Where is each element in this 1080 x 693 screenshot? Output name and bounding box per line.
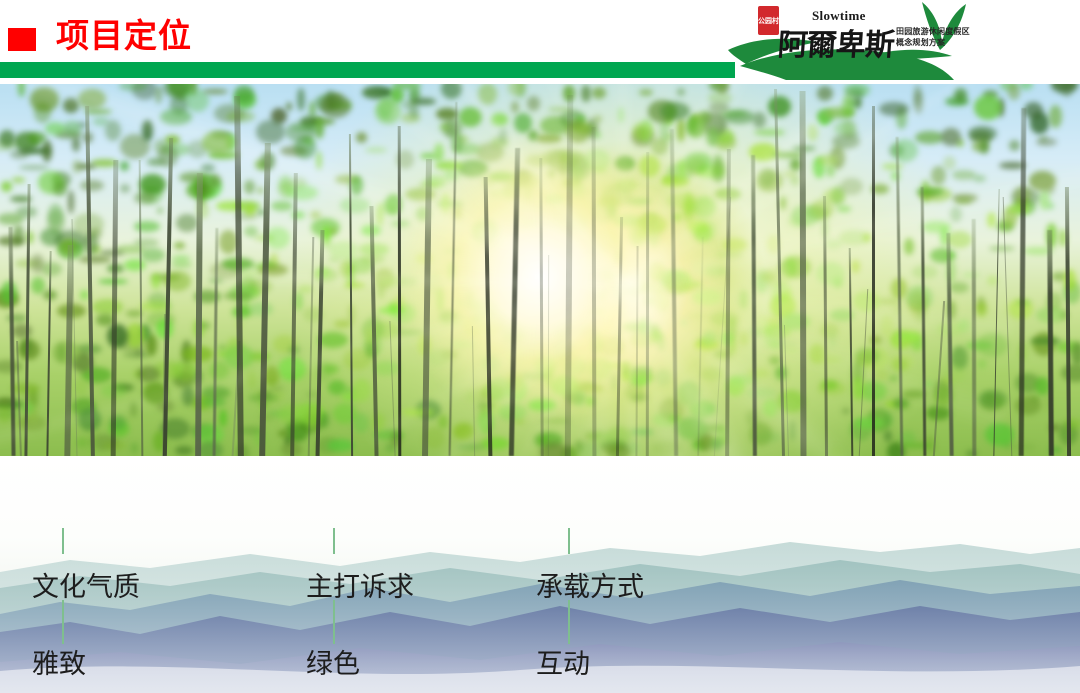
header-green-bar [0,62,735,78]
forest-photo [0,84,1080,456]
callout-2-top-label: 主打诉求 [306,571,414,603]
tick-2-lower [333,600,335,644]
page-title: 项目定位 [56,14,192,58]
logo-brand-name: 阿爾卑斯 [776,20,895,64]
tick-3-lower [568,600,570,644]
tick-1-lower [62,600,64,644]
tick-1-upper [62,528,64,554]
sun-rays-layer [0,84,1080,456]
logo-subtitle-line2: 概念规划方案 [896,37,970,48]
red-square-bullet-icon [8,28,36,51]
callout-2-bottom-label: 绿色 [306,648,360,680]
callout-3-top-label: 承载方式 [536,571,644,603]
callout-3-bottom-label: 互动 [536,648,590,680]
logo-seal-text: 公园村 [758,17,779,25]
logo-seal: 公园村 [758,6,779,35]
logo-subtitle: 田园旅游休闲度假区 概念规划方案 [896,26,970,48]
tick-3-upper [568,528,570,554]
tick-2-upper [333,528,335,554]
slide: 项目定位 公园村 Slowtime 阿爾卑斯 田园旅游休闲度假区 概念规划方案 … [0,0,1080,693]
callout-1-top-label: 文化气质 [32,571,140,603]
logo-subtitle-line1: 田园旅游休闲度假区 [896,26,970,37]
callout-1-bottom-label: 雅致 [32,648,86,680]
brand-logo: 公园村 Slowtime 阿爾卑斯 田园旅游休闲度假区 概念规划方案 [726,2,976,82]
